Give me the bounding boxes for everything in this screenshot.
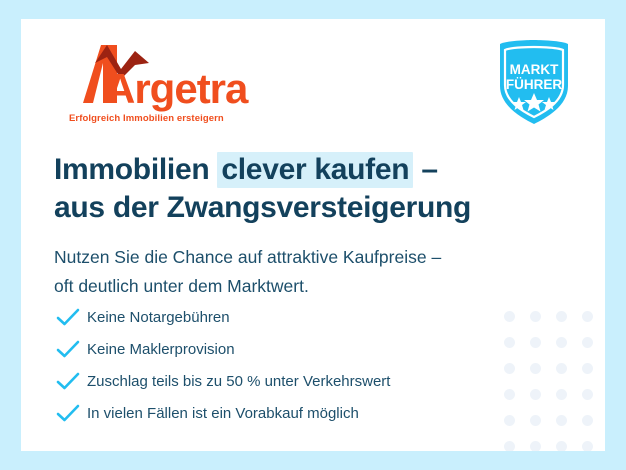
headline-line-1: Immobilien clever kaufen –	[54, 152, 438, 188]
page-title: Immobilien clever kaufen – aus der Zwang…	[54, 151, 471, 227]
dot	[582, 337, 593, 348]
headline-line-2: aus der Zwangsversteigerung	[54, 191, 471, 224]
dot	[530, 363, 541, 374]
dot	[582, 389, 593, 400]
dot	[530, 337, 541, 348]
dot	[582, 415, 593, 426]
logo-tagline: Erfolgreich Immobilien ersteigern	[69, 113, 224, 124]
dot	[556, 389, 567, 400]
dot	[504, 441, 515, 451]
check-icon	[55, 403, 81, 423]
dot	[556, 337, 567, 348]
svg-text:Argetra: Argetra	[105, 65, 249, 112]
list-item-label: In vielen Fällen ist ein Vorabkauf mögli…	[87, 405, 359, 422]
list-item-label: Keine Notargebühren	[87, 309, 230, 326]
dot	[582, 311, 593, 322]
dot	[504, 363, 515, 374]
shield-icon: MARKT FÜHRER	[494, 38, 574, 126]
check-icon	[55, 307, 81, 327]
roof-a-icon: Argetra	[57, 41, 267, 113]
argetra-logo[interactable]: Argetra Erfolgreich Immobilien ersteiger…	[57, 41, 267, 131]
promo-banner: Argetra Erfolgreich Immobilien ersteiger…	[0, 0, 626, 470]
list-item-label: Keine Maklerprovision	[87, 341, 235, 358]
dot	[530, 415, 541, 426]
subhead-line-2: oft deutlich unter dem Marktwert.	[54, 276, 309, 296]
market-leader-badge[interactable]: MARKT FÜHRER	[494, 38, 574, 126]
badge-line2: FÜHRER	[506, 77, 562, 92]
list-item: Zuschlag teils bis zu 50 % unter Verkehr…	[55, 365, 390, 397]
list-item: Keine Notargebühren	[55, 301, 390, 333]
dot	[504, 311, 515, 322]
dot	[556, 363, 567, 374]
dot	[556, 311, 567, 322]
dot-grid-decoration	[497, 304, 605, 451]
list-item-label: Zuschlag teils bis zu 50 % unter Verkehr…	[87, 373, 390, 390]
check-icon	[55, 339, 81, 359]
dot	[556, 415, 567, 426]
badge-line1: MARKT	[510, 62, 559, 77]
list-item: Keine Maklerprovision	[55, 333, 390, 365]
headline-post: –	[413, 153, 437, 186]
dot	[504, 415, 515, 426]
dot	[504, 337, 515, 348]
subhead-line-1: Nutzen Sie die Chance auf attraktive Kau…	[54, 247, 441, 267]
banner-canvas: Argetra Erfolgreich Immobilien ersteiger…	[21, 19, 605, 451]
dot	[582, 441, 593, 451]
list-item: In vielen Fällen ist ein Vorabkauf mögli…	[55, 397, 390, 429]
headline-pre: Immobilien	[54, 153, 217, 186]
dot	[556, 441, 567, 451]
benefits-list: Keine Notargebühren Keine Maklerprovisio…	[55, 301, 390, 429]
subheadline: Nutzen Sie die Chance auf attraktive Kau…	[54, 243, 441, 301]
dot	[504, 389, 515, 400]
headline-highlight: clever kaufen	[217, 152, 413, 188]
dot	[530, 389, 541, 400]
check-icon	[55, 371, 81, 391]
dot	[530, 441, 541, 451]
dot	[582, 363, 593, 374]
dot	[530, 311, 541, 322]
